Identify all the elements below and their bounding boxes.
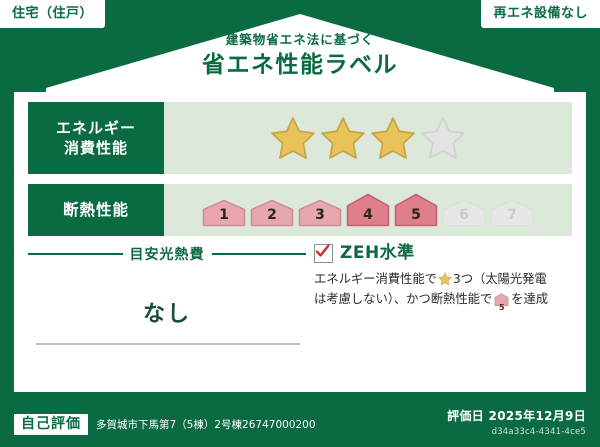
insulation-label: 断熱性能: [63, 200, 129, 221]
insulation-level-number: 7: [490, 208, 534, 222]
star-icon: [438, 272, 452, 286]
insulation-level-5: 5: [394, 193, 438, 227]
utility-cost-divider: [36, 343, 300, 345]
evaluation-date: 評価日 2025年12月9日: [447, 407, 586, 424]
title-subtitle: 建築物省エネ法に基づく: [0, 34, 600, 47]
zeh-desc-part2: は考慮しない）、かつ断熱性能で: [314, 291, 492, 306]
energy-performance-label: 住宅（住戸） 再エネ設備なし 建築物省エネ法に基づく 省エネ性能ラベル エネルギ…: [0, 0, 600, 447]
insulation-level-number: 3: [298, 208, 342, 222]
check-icon: [314, 243, 331, 260]
insulation-level-badges: 1234567: [202, 193, 534, 227]
insulation-level-number: 4: [346, 208, 390, 222]
insulation-badge-icon: 5: [494, 292, 509, 312]
star-icon-filled: [370, 115, 416, 161]
document-id: d34a33c4-4341-4ce5: [447, 427, 586, 437]
insulation-level-1: 1: [202, 199, 246, 227]
badge-housing-type: 住宅（住戸）: [0, 0, 105, 28]
energy-label-line1: エネルギー: [56, 118, 136, 138]
zeh-standard-block: ZEH水準 エネルギー消費性能で3つ（太陽光発電は考慮しない）、かつ断熱性能で5…: [314, 244, 576, 313]
footer-left: 自己評価 多賀城市下馬第7（5棟）2号棟26747000200: [14, 414, 316, 435]
insulation-level-2: 2: [250, 199, 294, 227]
heading-rule-left: [28, 253, 123, 255]
utility-cost-value: なし: [28, 296, 306, 328]
title-block: 建築物省エネ法に基づく 省エネ性能ラベル: [0, 34, 600, 77]
title-main: 省エネ性能ラベル: [0, 54, 600, 77]
zeh-desc-part3: を達成: [511, 291, 548, 306]
zeh-description: エネルギー消費性能で3つ（太陽光発電は考慮しない）、かつ断熱性能で5を達成: [314, 269, 576, 313]
star-icon-filled: [270, 115, 316, 161]
energy-stars-container: [164, 102, 572, 174]
utility-cost-heading-text: 目安光熱費: [130, 244, 205, 264]
zeh-desc-part1: エネルギー消費性能で: [314, 271, 437, 286]
footer-right: 評価日 2025年12月9日 d34a33c4-4341-4ce5: [447, 407, 586, 437]
zeh-desc-star-count: 3つ（太陽光発電: [453, 271, 547, 286]
insulation-level-number: 2: [250, 208, 294, 222]
insulation-level-6: 6: [442, 199, 486, 227]
badge-renewable-energy-label: 再エネ設備なし: [493, 6, 588, 21]
property-address: 多賀城市下馬第7（5棟）2号棟26747000200: [96, 417, 316, 432]
energy-label-line2: 消費性能: [64, 138, 128, 158]
zeh-checkbox[interactable]: [314, 244, 333, 263]
zeh-title: ZEH水準: [340, 245, 415, 262]
insulation-level-number: 1: [202, 208, 246, 222]
label-card: エネルギー 消費性能 断熱性能 1234567 目安光熱費 なし: [14, 92, 586, 392]
self-evaluation-badge: 自己評価: [14, 414, 88, 435]
star-rating: [270, 115, 466, 161]
insulation-performance-row: 断熱性能 1234567: [28, 184, 572, 236]
utility-cost-block: 目安光熱費 なし: [28, 244, 306, 379]
insulation-badge-number: 5: [494, 304, 509, 312]
zeh-heading: ZEH水準: [314, 244, 576, 263]
insulation-level-number: 5: [394, 208, 438, 222]
badge-renewable-energy: 再エネ設備なし: [481, 0, 600, 28]
evaluation-date-value: 2025年12月9日: [489, 409, 586, 423]
insulation-levels-container: 1234567: [164, 184, 572, 236]
badge-housing-type-label: 住宅（住戸）: [12, 6, 93, 21]
star-icon-filled: [320, 115, 366, 161]
heading-rule-right: [212, 253, 307, 255]
insulation-level-4: 4: [346, 193, 390, 227]
evaluation-date-label: 評価日: [447, 409, 484, 423]
insulation-level-number: 6: [442, 208, 486, 222]
star-icon-empty: [420, 115, 466, 161]
insulation-performance-label-box: 断熱性能: [28, 184, 164, 236]
insulation-level-3: 3: [298, 199, 342, 227]
insulation-level-7: 7: [490, 199, 534, 227]
utility-cost-heading: 目安光熱費: [28, 244, 306, 264]
label-footer: 自己評価 多賀城市下馬第7（5棟）2号棟26747000200 評価日 2025…: [0, 392, 600, 447]
energy-performance-row: エネルギー 消費性能: [28, 102, 572, 174]
energy-performance-label-box: エネルギー 消費性能: [28, 102, 164, 174]
